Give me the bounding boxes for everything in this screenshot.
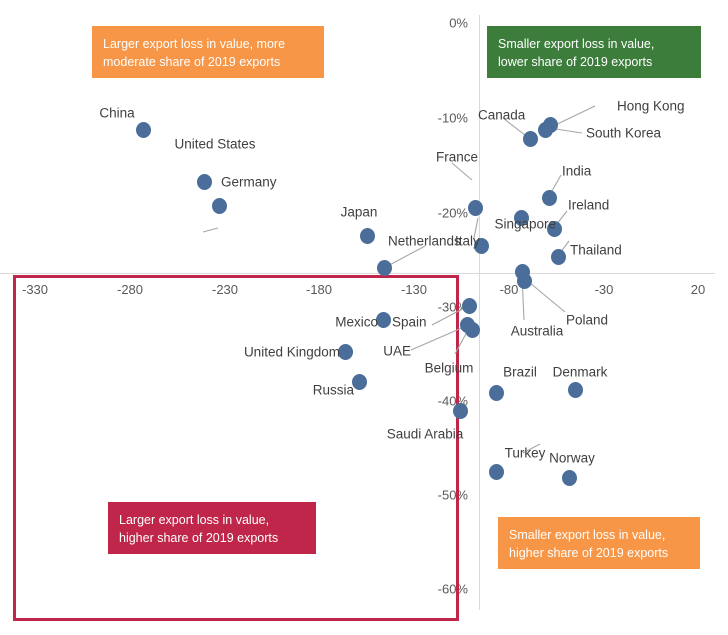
point-label-italy: Italy [455,234,480,249]
point-japan[interactable] [360,228,375,244]
point-label-mexico: Mexico [335,315,378,330]
point-label-spain: Spain [392,315,427,330]
point-united-states[interactable] [197,174,212,190]
x-tick-label-7: 20 [691,282,705,297]
point-belgium[interactable] [460,317,475,333]
point-denmark[interactable] [568,382,583,398]
point-germany[interactable] [212,198,227,214]
callout-top-left: Larger export loss in value, more modera… [92,26,324,78]
x-axis-line [0,273,715,274]
y-tick-label-2: -20% [404,206,468,221]
point-label-united-kingdom: United Kingdom [244,345,340,360]
point-label-canada: Canada [478,108,525,123]
point-label-australia: Australia [511,324,564,339]
point-label-hong-kong: Hong Kong [617,99,685,114]
point-norway[interactable] [562,470,577,486]
point-label-brazil: Brazil [503,365,537,380]
point-canada[interactable] [523,131,538,147]
point-label-poland: Poland [566,313,608,328]
point-france[interactable] [468,200,483,216]
x-tick-label-6: -30 [595,282,614,297]
point-label-india: India [562,164,591,179]
point-label-saudi-arabia: Saudi Arabia [387,427,464,442]
point-poland[interactable] [517,273,532,289]
point-label-norway: Norway [549,451,595,466]
point-label-germany: Germany [221,175,277,190]
point-label-belgium: Belgium [425,361,474,376]
y-axis-line [479,15,480,610]
point-label-china: China [99,106,134,121]
point-label-thailand: Thailand [570,243,622,258]
point-label-uae: UAE [383,344,411,359]
leader-france [452,163,472,180]
point-label-russia: Russia [313,383,354,398]
point-label-singapore: Singapore [494,217,556,232]
point-label-france: France [436,150,478,165]
callout-top-right: Smaller export loss in value, lower shar… [487,26,701,78]
leader-germany [203,228,218,232]
point-brazil[interactable] [489,385,504,401]
y-tick-label-0: 0% [404,16,468,31]
point-label-japan: Japan [341,205,378,220]
point-label-netherlands: Netherlands [388,234,461,249]
point-label-denmark: Denmark [553,365,608,380]
point-label-south-korea: South Korea [586,126,661,141]
point-south-korea[interactable] [538,122,553,138]
point-spain[interactable] [462,298,477,314]
point-turkey[interactable] [489,464,504,480]
point-label-ireland: Ireland [568,198,609,213]
point-china[interactable] [136,122,151,138]
point-label-turkey: Turkey [505,446,546,461]
y-tick-label-1: -10% [404,111,468,126]
callout-bottom-right: Smaller export loss in value, higher sha… [498,517,700,569]
point-netherlands[interactable] [377,260,392,276]
point-thailand[interactable] [551,249,566,265]
point-label-united-states: United States [174,137,255,152]
point-saudi-arabia[interactable] [453,403,468,419]
callout-bottom-left: Larger export loss in value, higher shar… [108,502,316,554]
scatter-chart: -330 -280 -230 -180 -130 -80 -30 20 0% -… [0,0,728,635]
x-tick-label-5: -80 [500,282,519,297]
point-india[interactable] [542,190,557,206]
